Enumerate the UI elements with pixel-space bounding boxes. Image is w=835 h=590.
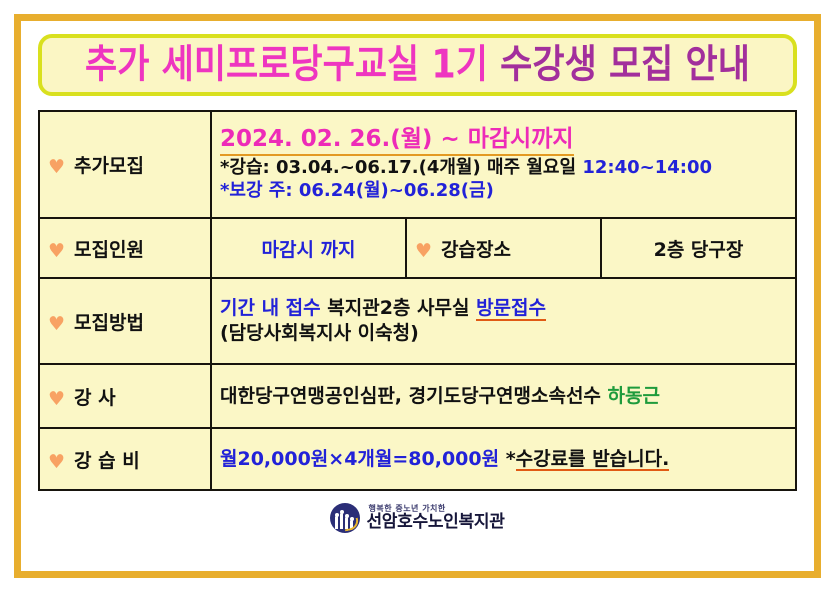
title-part-1: 추가 세미프로당구교실 1기 [85,42,488,87]
row-label-text: 모집인원 [74,239,144,261]
table-row: ♥모집인원 마감시 까지 ♥강습장소 2층 당구장 [39,218,796,278]
apply-period: 기간 내 접수 [220,297,321,319]
fee-note: 수강료를 받습니다. [516,449,670,472]
row-label-location: ♥강습장소 [406,218,601,278]
class-schedule: *강습: 03.04.~06.17.(4개월) 매주 월요일 [220,157,582,178]
title-banner: 추가 세미프로당구교실 1기 수강생 모집 안내 [38,34,797,96]
heart-icon: ♥ [48,388,65,410]
instructor-line: 대한당구연맹공인심판, 경기도당구연맹소속선수 하동근 [220,384,787,409]
class-time: 12:40~14:00 [582,157,712,178]
row-label-text: 추가모집 [74,155,144,177]
logo-circle-icon [330,503,360,533]
row-value-instructor: 대한당구연맹공인심판, 경기도당구연맹소속선수 하동근 [211,364,796,428]
row-value-capacity: 마감시 까지 [211,218,406,278]
poster-frame: 추가 세미프로당구교실 1기 수강생 모집 안내 ♥추가모집 2024. 02.… [14,14,821,578]
row-value-recruitment: 2024. 02. 26.(월) ~ 마감시까지 *강습: 03.04.~06.… [211,111,796,218]
recruit-period-line: 2024. 02. 26.(월) ~ 마감시까지 [220,126,787,155]
makeup-week: *보강 주: 06.24(월)~06.28(금) [220,180,494,201]
instructor-name: 하동근 [608,385,660,407]
row-label-capacity: ♥모집인원 [39,218,211,278]
location-value: 2층 당구장 [654,239,744,261]
table-row: ♥모집방법 기간 내 접수 복지관2층 사무실 방문접수 (담당사회복지사 이숙… [39,278,796,364]
logo-name: 선암호수노인복지관 [366,514,504,531]
poster-inner: 추가 세미프로당구교실 1기 수강생 모집 안내 ♥추가모집 2024. 02.… [21,21,814,571]
row-label-fee: ♥강 습 비 [39,428,211,490]
recruit-period: 2024. 02. 26.(월) ~ 마감시까지 [220,126,574,155]
table-row: ♥강 사 대한당구연맹공인심판, 경기도당구연맹소속선수 하동근 [39,364,796,428]
row-value-method: 기간 내 접수 복지관2층 사무실 방문접수 (담당사회복지사 이숙청) [211,278,796,364]
info-table: ♥추가모집 2024. 02. 26.(월) ~ 마감시까지 *강습: 03.0… [38,110,797,491]
heart-icon: ♥ [415,240,432,262]
row-value-location: 2층 당구장 [601,218,796,278]
makeup-week-line: *보강 주: 06.24(월)~06.28(금) [220,179,787,202]
fee-amount: 월20,000원×4개월=80,000원 [220,448,506,470]
poster: 추가 세미프로당구교실 1기 수강생 모집 안내 ♥추가모집 2024. 02.… [0,0,835,590]
row-label-text: 강습장소 [441,239,511,261]
table-row: ♥강 습 비 월20,000원×4개월=80,000원 *수강료를 받습니다. [39,428,796,490]
heart-icon: ♥ [48,240,65,262]
page-title: 추가 세미프로당구교실 1기 수강생 모집 안내 [85,45,750,84]
instructor-credentials: 대한당구연맹공인심판, 경기도당구연맹소속선수 [220,385,608,407]
table-row: ♥추가모집 2024. 02. 26.(월) ~ 마감시까지 *강습: 03.0… [39,111,796,218]
row-label-recruitment: ♥추가모집 [39,111,211,218]
apply-visit: 방문접수 [476,298,546,321]
heart-icon: ♥ [48,451,65,473]
organization-logo: 행복한 중노년 가치한 선암호수노인복지관 [330,503,504,533]
heart-icon: ♥ [48,313,65,335]
heart-icon: ♥ [48,156,65,178]
footer: 행복한 중노년 가치한 선암호수노인복지관 [38,491,797,565]
capacity-value: 마감시 까지 [261,239,355,261]
row-label-method: ♥모집방법 [39,278,211,364]
row-label-instructor: ♥강 사 [39,364,211,428]
class-schedule-line: *강습: 03.04.~06.17.(4개월) 매주 월요일 12:40~14:… [220,156,787,179]
row-label-text: 강 습 비 [74,450,140,472]
title-part-2: 수강생 모집 안내 [500,42,750,87]
row-value-fee: 월20,000원×4개월=80,000원 *수강료를 받습니다. [211,428,796,490]
apply-place: 복지관2층 사무실 [321,297,476,319]
row-label-text: 모집방법 [74,312,144,334]
apply-contact-line: (담당사회복지사 이숙청) [220,321,787,346]
apply-method-line: 기간 내 접수 복지관2층 사무실 방문접수 [220,296,787,321]
fee-line: 월20,000원×4개월=80,000원 *수강료를 받습니다. [220,447,787,472]
row-label-text: 강 사 [74,387,116,409]
logo-text: 행복한 중노년 가치한 선암호수노인복지관 [366,505,504,531]
apply-contact: (담당사회복지사 이숙청) [220,322,419,344]
fee-note-mark: * [506,448,516,470]
